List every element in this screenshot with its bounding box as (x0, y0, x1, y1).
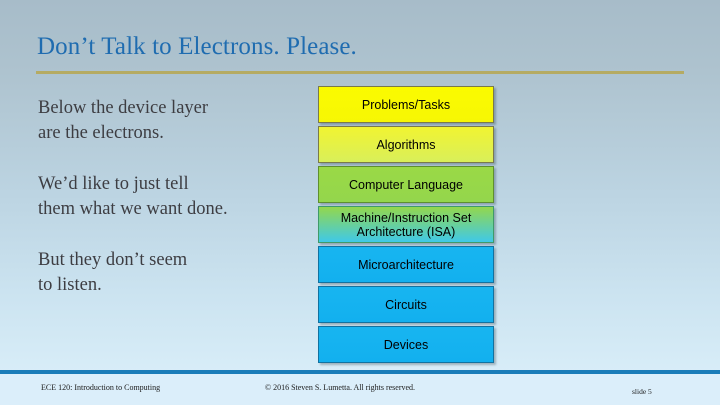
body-paragraph: But they don’t seem to listen. (38, 248, 304, 298)
layer-box-problems-tasks: Problems/Tasks (318, 86, 494, 123)
slide-canvas: Don’t Talk to Electrons. Please. Below t… (0, 0, 720, 405)
body-text-column: Below the device layer are the electrons… (38, 96, 304, 298)
body-paragraph: We’d like to just tell them what we want… (38, 172, 304, 222)
layer-box-microarchitecture: Microarchitecture (318, 246, 494, 283)
footer-slide-number: slide 5 (632, 387, 652, 396)
layer-box-algorithms: Algorithms (318, 126, 494, 163)
footer-course-label: ECE 120: Introduction to Computing (41, 383, 160, 392)
layer-box-computer-language: Computer Language (318, 166, 494, 203)
layer-box-isa: Machine/Instruction Set Architecture (IS… (318, 206, 494, 243)
layer-box-devices: Devices (318, 326, 494, 363)
slide-title: Don’t Talk to Electrons. Please. (37, 33, 357, 61)
slide-footer: ECE 120: Introduction to Computing © 201… (0, 374, 720, 405)
body-paragraph: Below the device layer are the electrons… (38, 96, 304, 146)
footer-copyright-label: © 2016 Steven S. Lumetta. All rights res… (265, 383, 415, 392)
title-divider-rule (36, 71, 684, 74)
abstraction-layer-stack: Problems/Tasks Algorithms Computer Langu… (318, 86, 494, 363)
layer-box-circuits: Circuits (318, 286, 494, 323)
